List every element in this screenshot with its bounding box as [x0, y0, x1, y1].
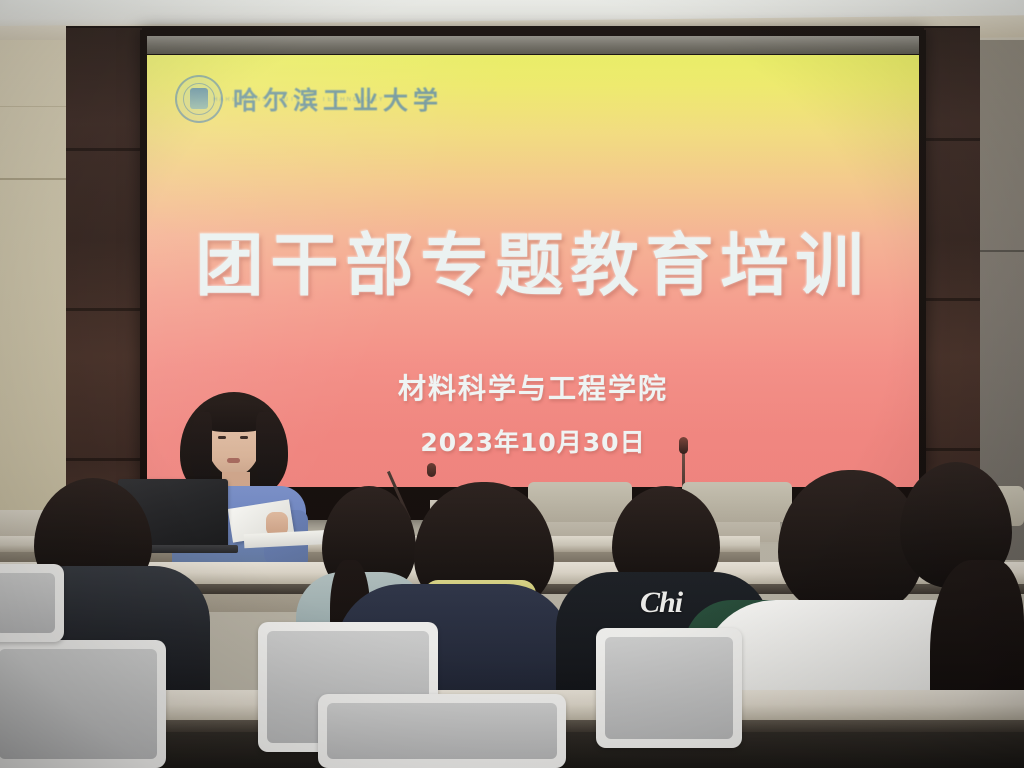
slide-title: 团干部专题教育培训: [147, 210, 919, 309]
presenter-eye-right: [240, 436, 248, 439]
jacket-text: Chi: [640, 586, 682, 620]
chair-mesh: [0, 573, 55, 633]
lecture-hall-photo: 哈尔滨工业大学 HARBIN INSTITUTE OF TECHNOLOGY 团…: [0, 0, 1024, 768]
chair-front-4[interactable]: [596, 628, 742, 748]
chair-mid-left[interactable]: [0, 564, 64, 642]
presenter-eye-left: [218, 436, 226, 439]
presenter-hair-right: [256, 412, 282, 486]
right-wall-seam: [975, 250, 1024, 252]
chair-mesh: [605, 637, 733, 739]
screen-roller-housing: [147, 36, 919, 54]
presenter-hair-left: [190, 412, 212, 484]
chair-front-1[interactable]: [0, 640, 166, 768]
chair-mesh: [327, 703, 557, 759]
presenter-mouth: [227, 458, 240, 463]
chair-front-3[interactable]: [318, 694, 566, 768]
chair-mesh: [0, 649, 157, 759]
university-english-subtitle: HARBIN INSTITUTE OF TECHNOLOGY: [213, 97, 385, 103]
